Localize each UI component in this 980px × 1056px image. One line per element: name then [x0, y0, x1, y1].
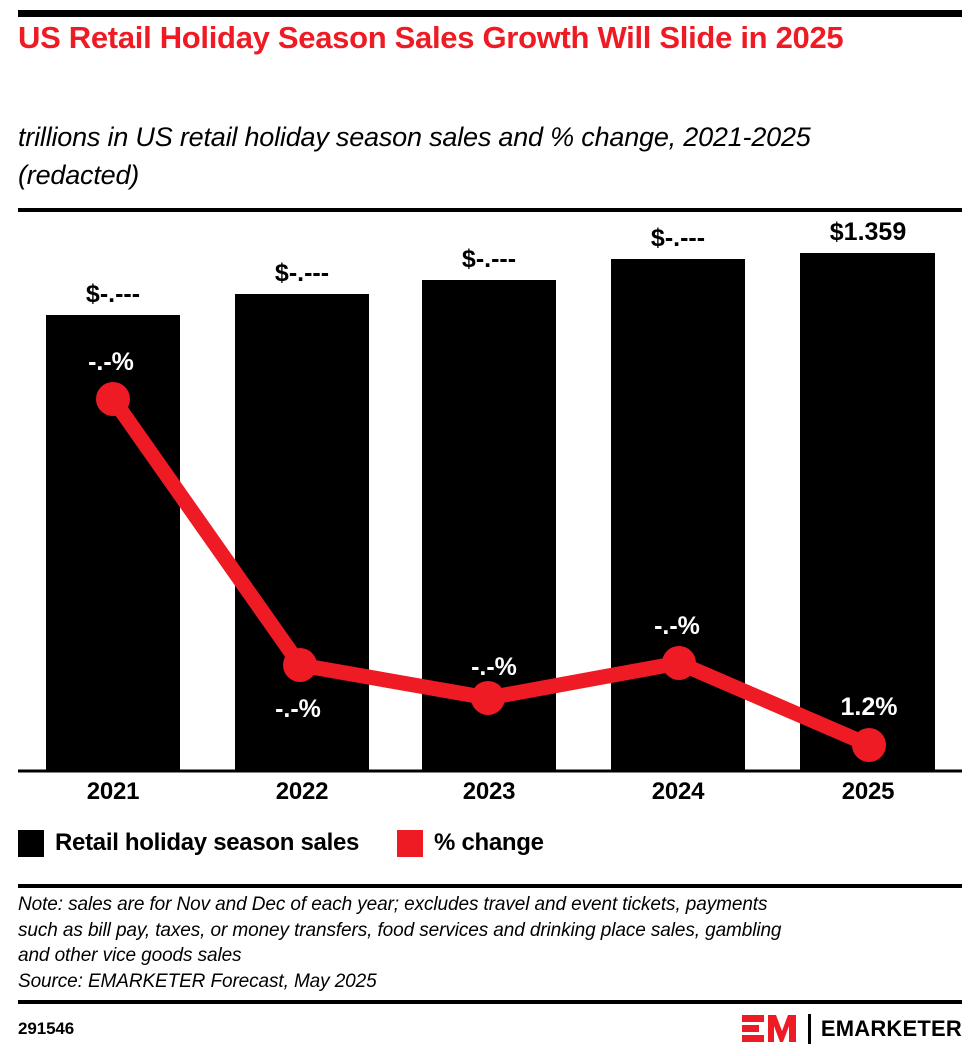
legend-label-percent-change: % change [434, 829, 544, 857]
x-tick-2021: 2021 [43, 778, 183, 806]
bar-2024 [611, 259, 745, 770]
em-logo-icon [742, 1013, 798, 1045]
brand-lockup[interactable]: EMARKETER [742, 1013, 962, 1045]
top-rule [18, 10, 962, 17]
brand-divider [808, 1014, 811, 1044]
point-2022 [283, 648, 317, 682]
note-line-2: such as bill pay, taxes, or money transf… [18, 918, 962, 944]
legend-swatch-sales-icon [18, 830, 44, 857]
note-line-3: and other vice goods sales [18, 943, 962, 969]
line-label-2021: -.-% [88, 348, 134, 376]
bar-label-2024: $-.--- [651, 224, 705, 252]
legend-label-sales: Retail holiday season sales [55, 829, 359, 857]
x-tick-2022: 2022 [232, 778, 372, 806]
line-label-2023: -.-% [471, 653, 517, 681]
bar-label-2021: $-.--- [86, 280, 140, 308]
page-title: US Retail Holiday Season Sales Growth Wi… [18, 20, 948, 56]
line-label-2022: -.-% [275, 695, 321, 723]
page-subtitle: trillions in US retail holiday season sa… [18, 118, 898, 194]
chart-notes: Note: sales are for Nov and Dec of each … [18, 892, 962, 994]
bar-label-2023: $-.--- [462, 245, 516, 273]
page-footer: 291546 EMARKETER [18, 1012, 962, 1046]
x-tick-2024: 2024 [608, 778, 748, 806]
brand-name: EMARKETER [821, 1016, 962, 1042]
legend-item-sales[interactable]: Retail holiday season sales [18, 829, 359, 857]
point-2021 [96, 382, 130, 416]
chart-id: 291546 [18, 1019, 74, 1039]
point-2023 [471, 681, 505, 715]
legend-swatch-percent-change-icon [397, 830, 423, 857]
point-2025 [852, 728, 886, 762]
bar-label-2022: $-.--- [275, 259, 329, 287]
notes-rule [18, 884, 962, 888]
chart-canvas: $-.--- $-.--- $-.--- $-.--- $1.359 -.-% … [0, 212, 980, 782]
note-line-1: Note: sales are for Nov and Dec of each … [18, 892, 962, 918]
chart-page: US Retail Holiday Season Sales Growth Wi… [0, 0, 980, 1056]
x-axis-labels: 2021 2022 2023 2024 2025 [18, 778, 962, 812]
x-tick-2025: 2025 [798, 778, 938, 806]
note-source: Source: EMARKETER Forecast, May 2025 [18, 969, 962, 995]
x-tick-2023: 2023 [419, 778, 559, 806]
bar-label-2025: $1.359 [830, 218, 906, 246]
line-label-2024: -.-% [654, 612, 700, 640]
footer-rule [18, 1000, 962, 1004]
line-label-2025: 1.2% [841, 693, 898, 721]
legend-item-percent-change[interactable]: % change [397, 829, 544, 857]
point-2024 [662, 646, 696, 680]
chart-legend: Retail holiday season sales % change [18, 826, 582, 860]
